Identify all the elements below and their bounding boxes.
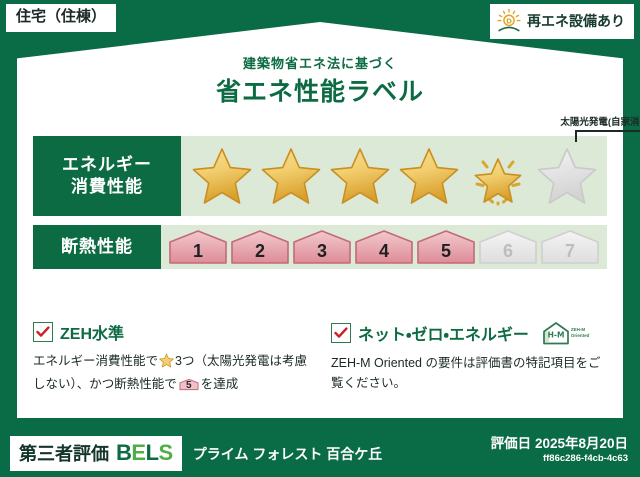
energy-row-label: エネルギー 消費性能 xyxy=(33,136,181,216)
grade-house-2-label: 2 xyxy=(255,242,265,265)
bels-letter-b: B xyxy=(116,440,131,465)
evaluation-date: 評価日 2025年8月20日 xyxy=(491,436,628,452)
zeh-m-oriented-logo: H-M ZEH-M Oriented xyxy=(539,320,590,346)
building-type-tag: 住宅（住棟） xyxy=(6,4,116,32)
footer-bar: 第三者評価 BELS プライム フォレスト 百合ケ丘 評価日 2025年8月20… xyxy=(0,430,640,477)
note-net-zero-head: ネット・ゼロ・エネルギー H-M ZEH-M Oriented xyxy=(331,320,611,346)
insulation-performance-row: 断熱性能 1 xyxy=(33,225,607,269)
label-heading: 建築物省エネ法に基づく 省エネ性能ラベル xyxy=(0,56,640,107)
star-3 xyxy=(329,146,391,206)
third-party-label: 第三者評価 xyxy=(19,440,109,466)
bels-letter-l: L xyxy=(146,440,159,465)
checkbox-checked-icon xyxy=(33,322,53,342)
solar-annotation-text: 太陽光発電(自家消費)分 xyxy=(536,114,640,128)
renewable-equipment-badge: D 再エネ設備あり xyxy=(490,4,634,39)
note-net-zero-title: ネット・ゼロ・エネルギー xyxy=(358,321,529,345)
grade-house-5-label: 5 xyxy=(441,242,451,265)
property-name: プライム フォレスト 百合ケ丘 xyxy=(193,444,383,464)
grade-house-3-label: 3 xyxy=(317,242,327,265)
note-net-zero-energy: ネット・ゼロ・エネルギー H-M ZEH-M Oriented ZEH-M Or… xyxy=(331,320,611,395)
note-zeh-body-part3: を達成 xyxy=(201,377,239,391)
note-net-zero-body: ZEH-M Oriented の要件は評価書の特記項目をご覧ください。 xyxy=(331,353,611,394)
grade-house-7-label: 7 xyxy=(565,242,575,265)
inline-star-icon xyxy=(159,357,174,371)
grade-house-7: 7 xyxy=(539,229,601,265)
bels-logo: BELS xyxy=(116,442,173,464)
star-6-empty xyxy=(536,146,598,206)
grade-house-4: 4 xyxy=(353,229,415,265)
note-zeh-standard-head: ZEH水準 xyxy=(33,320,313,344)
evaluation-id: ff86c286-f4cb-4c63 xyxy=(491,454,628,464)
sun-solar-icon: D xyxy=(496,8,522,34)
grade-house-1: 1 xyxy=(167,229,229,265)
grade-house-2: 2 xyxy=(229,229,291,265)
energy-performance-row: エネルギー 消費性能 太陽光発電(自家消費)分 xyxy=(33,136,607,216)
bels-letter-s: S xyxy=(159,440,173,465)
bels-letter-e: E xyxy=(131,440,145,465)
note-zeh-standard-title: ZEH水準 xyxy=(60,320,124,344)
energy-label-card: 住宅（住棟） D 再エネ設備あり 建築物省エネ法に基づく xyxy=(0,0,640,477)
star-4 xyxy=(398,146,460,206)
energy-star-track: 太陽光発電(自家消費)分 xyxy=(181,136,607,216)
grade-house-1-label: 1 xyxy=(193,242,203,265)
insulation-row-label: 断熱性能 xyxy=(33,225,161,269)
note-zeh-standard: ZEH水準 エネルギー消費性能で3つ（太陽光発電は考慮しない）、かつ断熱性能で5… xyxy=(33,320,313,395)
svg-text:H-M: H-M xyxy=(547,331,564,340)
insulation-grade-track: 1 2 3 4 xyxy=(161,225,607,269)
renewable-badge-label: 再エネ設備あり xyxy=(527,11,625,31)
star-1 xyxy=(191,146,253,206)
evaluation-info: 評価日 2025年8月20日 ff86c286-f4cb-4c63 xyxy=(491,436,628,465)
heading-title: 省エネ性能ラベル xyxy=(0,77,640,107)
grade-house-6-label: 6 xyxy=(503,242,513,265)
note-zeh-body-part1: エネルギー消費性能で xyxy=(33,354,158,368)
inline-grade-house-icon: 5 xyxy=(179,377,199,392)
bels-certification-box: 第三者評価 BELS xyxy=(10,436,182,471)
svg-text:D: D xyxy=(506,17,512,25)
grade-house-3: 3 xyxy=(291,229,353,265)
solar-annotation-bracket xyxy=(575,130,640,142)
insulation-label-line1: 断熱性能 xyxy=(61,236,133,258)
grade-house-5: 5 xyxy=(415,229,477,265)
star-5-solar xyxy=(467,146,529,206)
certification-notes: ZEH水準 エネルギー消費性能で3つ（太陽光発電は考慮しない）、かつ断熱性能で5… xyxy=(33,320,611,395)
energy-label-line2: 消費性能 xyxy=(71,176,143,198)
grade-house-6: 6 xyxy=(477,229,539,265)
rating-rows: エネルギー 消費性能 太陽光発電(自家消費)分 xyxy=(33,136,607,278)
heading-subtitle: 建築物省エネ法に基づく xyxy=(0,56,640,72)
note-zeh-standard-body: エネルギー消費性能で3つ（太陽光発電は考慮しない）、かつ断熱性能で5を達成 xyxy=(33,351,313,395)
inline-grade-value: 5 xyxy=(179,378,199,394)
energy-label-line1: エネルギー xyxy=(62,154,152,176)
zeh-m-caption-line2: Oriented xyxy=(571,333,590,339)
grade-house-4-label: 4 xyxy=(379,242,389,265)
checkbox-checked-icon-2 xyxy=(331,323,351,343)
star-2 xyxy=(260,146,322,206)
